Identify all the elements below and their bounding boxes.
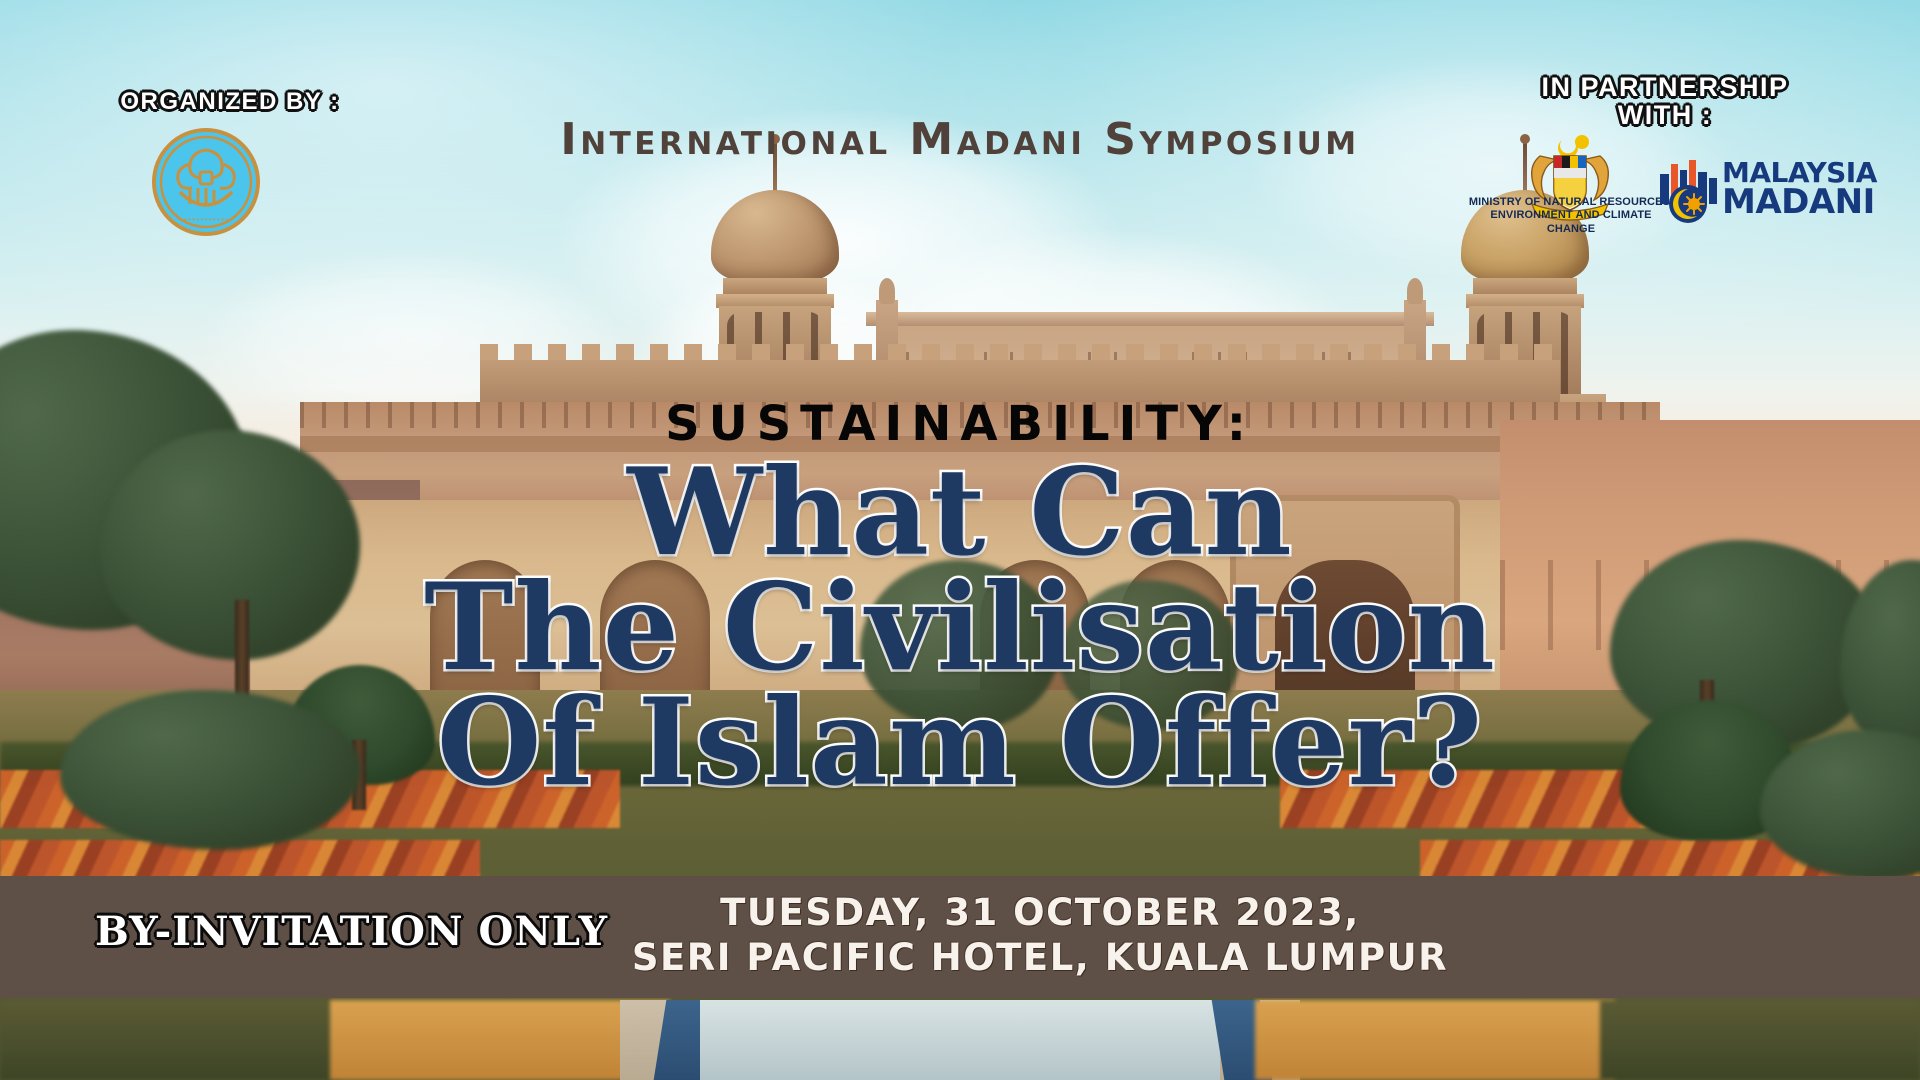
partnership-label-line-2: WITH : [1618,100,1712,130]
event-poster: ORGANIZED BY : ••••••••••• International… [0,0,1920,1080]
symposium-title-line-1: International Madani [560,114,1085,165]
symposium-title-line-2: Symposium [1104,114,1359,165]
reflecting-pool [700,1000,1220,1080]
headline-line-3: Of Islam Offer? [140,685,1780,800]
partnership-label: IN PARTNERSHIP WITH : [1470,74,1860,129]
dome [711,190,839,282]
organized-by-label: ORGANIZED BY : [0,88,460,116]
headline-line-1: What Can [140,455,1780,570]
madani-wordmark-line-2: MADANI [1722,186,1877,219]
headline-line-2: The Civilisation [140,570,1780,685]
right-edge-vegetation [1600,1000,1920,1080]
main-headline: What Can The Civilisation Of Islam Offer… [140,455,1780,801]
event-date: TUESDAY, 31 OCTOBER 2023, [560,890,1520,935]
left-edge-vegetation [0,1000,340,1080]
ministry-caption-line-1: MINISTRY OF NATURAL RESOURCES, [1466,196,1676,209]
svg-text:•••••••••••: ••••••••••• [183,216,228,224]
right-pathway [1255,1000,1615,1080]
ikim-logo: ••••••••••• [152,128,260,236]
partnership-label-line-1: IN PARTNERSHIP [1541,72,1788,102]
ministry-caption-line-2: ENVIRONMENT AND CLIMATE CHANGE [1466,209,1676,236]
event-details: TUESDAY, 31 OCTOBER 2023, SERI PACIFIC H… [560,890,1520,980]
ministry-caption: MINISTRY OF NATURAL RESOURCES, ENVIRONME… [1466,196,1676,236]
admission-badge: BY-INVITATION ONLY [95,908,608,955]
event-venue: SERI PACIFIC HOTEL, KUALA LUMPUR [560,935,1520,980]
symposium-title: International Madani Symposium [460,113,1460,167]
hall-cornice [866,312,1434,326]
malaysia-madani-wordmark: MALAYSIA MADANI [1722,159,1877,219]
left-pathway [330,1000,670,1080]
